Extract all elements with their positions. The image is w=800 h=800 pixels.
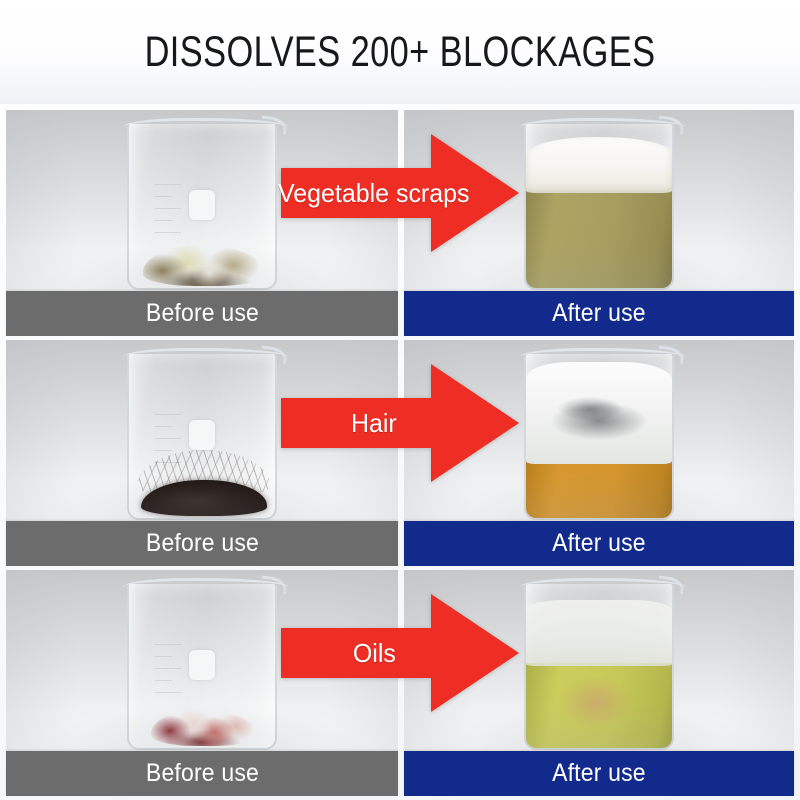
beaker-spout [657,345,685,364]
caption-after-hair: After use [404,521,794,566]
comparison-row-vegetable-scraps: Vegetable scraps Before use After use [0,110,800,336]
arrow-label-vegetable-scraps: Vegetable scraps [281,134,467,252]
caption-after-oils: After use [404,751,794,796]
arrow-label-text: Hair [351,409,397,437]
page-title: DISSOLVES 200+ BLOCKAGES [80,28,720,76]
arrow-label-text: Vegetable scraps [278,179,469,207]
arrow-label-text: Oils [353,639,396,667]
liquid-fill-oils [526,663,672,748]
caption-before-hair: Before use [6,521,398,566]
beaker-sticker [189,650,215,680]
arrow-label-oils: Oils [281,594,467,712]
foam-layer-hair [526,362,672,464]
transform-arrow-hair: Hair [281,364,519,482]
caption-after-vegetable-scraps: After use [404,291,794,336]
foam-layer-vegetable-scraps [526,137,672,193]
caption-text: After use [552,529,646,558]
beaker-spout [260,115,288,134]
transform-arrow-vegetable-scraps: Vegetable scraps [281,134,519,252]
beaker-spout [657,115,685,134]
liquid-fill-vegetable-scraps [526,186,672,288]
caption-before-oils: Before use [6,751,398,796]
debris-meat-fat [151,710,257,746]
beaker-sticker [189,190,215,220]
comparison-row-hair: Hair Before use After use [0,340,800,566]
caption-text: After use [552,299,646,328]
foam-layer-oils [526,600,672,666]
header-banner: DISSOLVES 200+ BLOCKAGES [0,0,800,104]
beaker-spout [260,345,288,364]
transform-arrow-oils: Oils [281,594,519,712]
beaker-spout [260,575,288,594]
debris-vegetable-scraps [143,246,265,286]
liquid-fill-hair [526,459,672,518]
product-comparison-image: DISSOLVES 200+ BLOCKAGES [0,0,800,800]
beaker-spout [657,575,685,594]
comparison-row-oils: Oils Before use After use [0,570,800,796]
beaker-sticker [189,420,215,450]
caption-text: Before use [145,759,258,788]
caption-before-vegetable-scraps: Before use [6,291,398,336]
caption-text: Before use [145,529,258,558]
caption-text: After use [552,759,646,788]
caption-text: Before use [145,299,258,328]
arrow-label-hair: Hair [281,364,467,482]
